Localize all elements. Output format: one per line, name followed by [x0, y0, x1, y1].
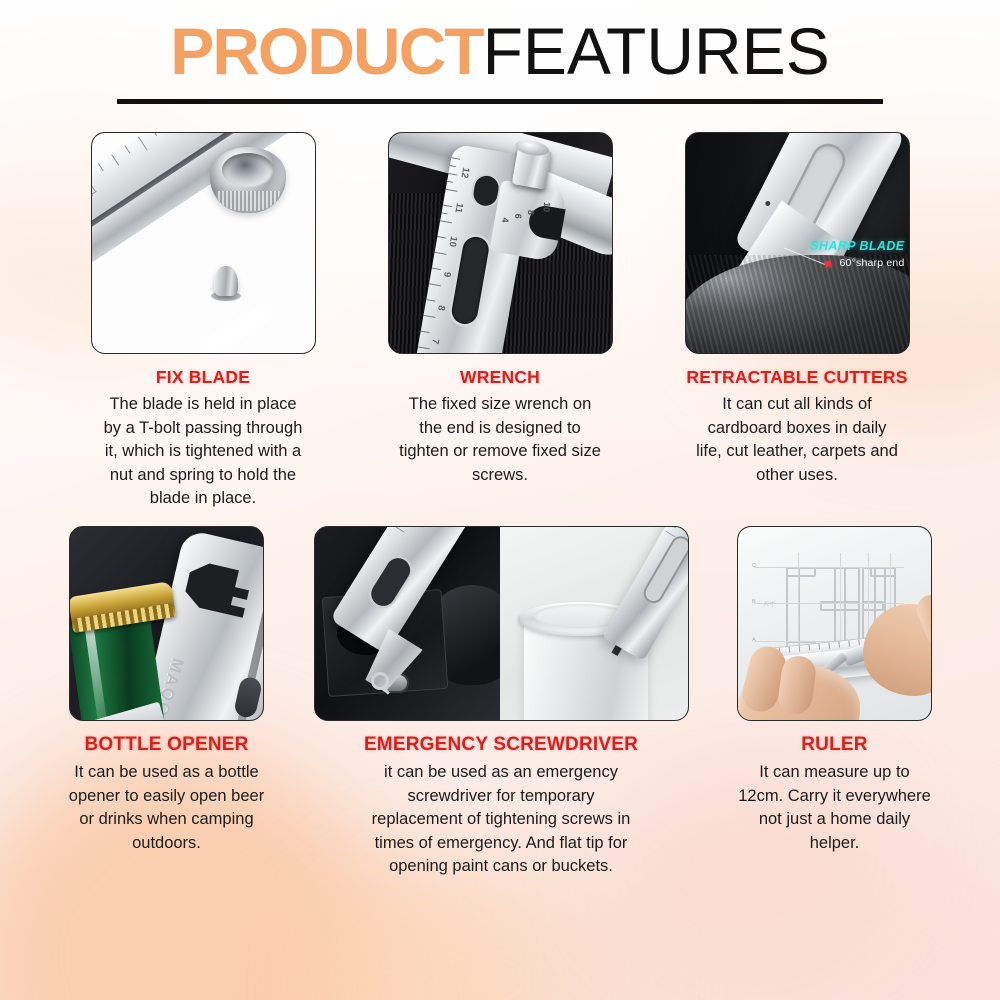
feature-description: it can be used as an emergency screwdriv… — [365, 761, 637, 878]
feature-card-fix-blade: 1 2 — [91, 132, 316, 510]
features-row-top: 1 2 — [0, 132, 1000, 510]
screwdriver-panel-left — [315, 527, 502, 720]
paint-can-panel-right — [500, 527, 688, 720]
feature-card-retractable-cutters: SHARP BLADE 60°sharp end RETRACTABLE CUT… — [685, 132, 910, 510]
page-title: PRODUCTFEATURES — [0, 18, 1000, 85]
feature-heading: BOTTLE OPENER — [84, 734, 248, 756]
feature-description: The fixed size wrench on the end is desi… — [396, 393, 604, 487]
t-bolt-post-graphic — [214, 266, 238, 296]
features-row-bottom: MAQQL BOTTLE OPENER It can be used as a … — [0, 526, 1000, 878]
callout-dot-icon — [825, 261, 831, 267]
callout-sharp-blade-label: SHARP BLADE — [810, 239, 904, 253]
title-underline-divider — [117, 99, 883, 104]
feature-heading: RULER — [801, 734, 867, 756]
feature-description: The blade is held in place by a T-bolt p… — [99, 393, 307, 510]
feature-heading: RETRACTABLE CUTTERS — [686, 367, 907, 388]
wrench-jaw-graphic: 4 6 8 10 — [489, 180, 567, 262]
feature-card-bottle-opener: MAQQL BOTTLE OPENER It can be used as a … — [68, 526, 266, 878]
feature-heading: WRENCH — [460, 367, 540, 388]
feature-image-fix-blade: 1 2 — [91, 132, 316, 354]
flat-tip-tool-graphic — [601, 527, 687, 661]
logo-mark-icon — [371, 672, 389, 690]
feature-description: It can be used as a bottle opener to eas… — [68, 761, 266, 855]
product-features-infographic: PRODUCTFEATURES 1 — [0, 0, 1000, 1000]
page-header: PRODUCTFEATURES — [0, 0, 1000, 104]
feature-description: It can cut all kinds of cardboard boxes … — [693, 393, 901, 487]
feature-description: It can measure up to 12cm. Carry it ever… — [737, 761, 933, 855]
feature-image-wrench: 12 11 10 9 8 7 4 6 8 — [388, 132, 613, 354]
feature-image-retractable-cutters: SHARP BLADE 60°sharp end — [685, 132, 910, 354]
bottle-opener-notch-graphic — [181, 556, 263, 625]
feature-card-emergency-screwdriver: EMERGENCY SCREWDRIVER it can be used as … — [314, 526, 689, 878]
callout-sharp-end-label: 60°sharp end — [840, 257, 905, 269]
feature-image-emergency-screwdriver — [314, 526, 689, 721]
feature-image-ruler: C B A 尺寸 下限公差 上限公差 — [737, 526, 932, 721]
feature-card-wrench: 12 11 10 9 8 7 4 6 8 — [388, 132, 613, 510]
feature-heading: FIX BLADE — [156, 367, 250, 388]
page-title-plain: FEATURES — [483, 14, 830, 88]
page-title-accent: PRODUCT — [170, 14, 482, 88]
feature-heading: EMERGENCY SCREWDRIVER — [364, 734, 638, 756]
knurled-nut-graphic — [210, 147, 286, 213]
feature-card-ruler: C B A 尺寸 下限公差 上限公差 — [737, 526, 933, 878]
feature-image-bottle-opener: MAQQL — [69, 526, 264, 721]
